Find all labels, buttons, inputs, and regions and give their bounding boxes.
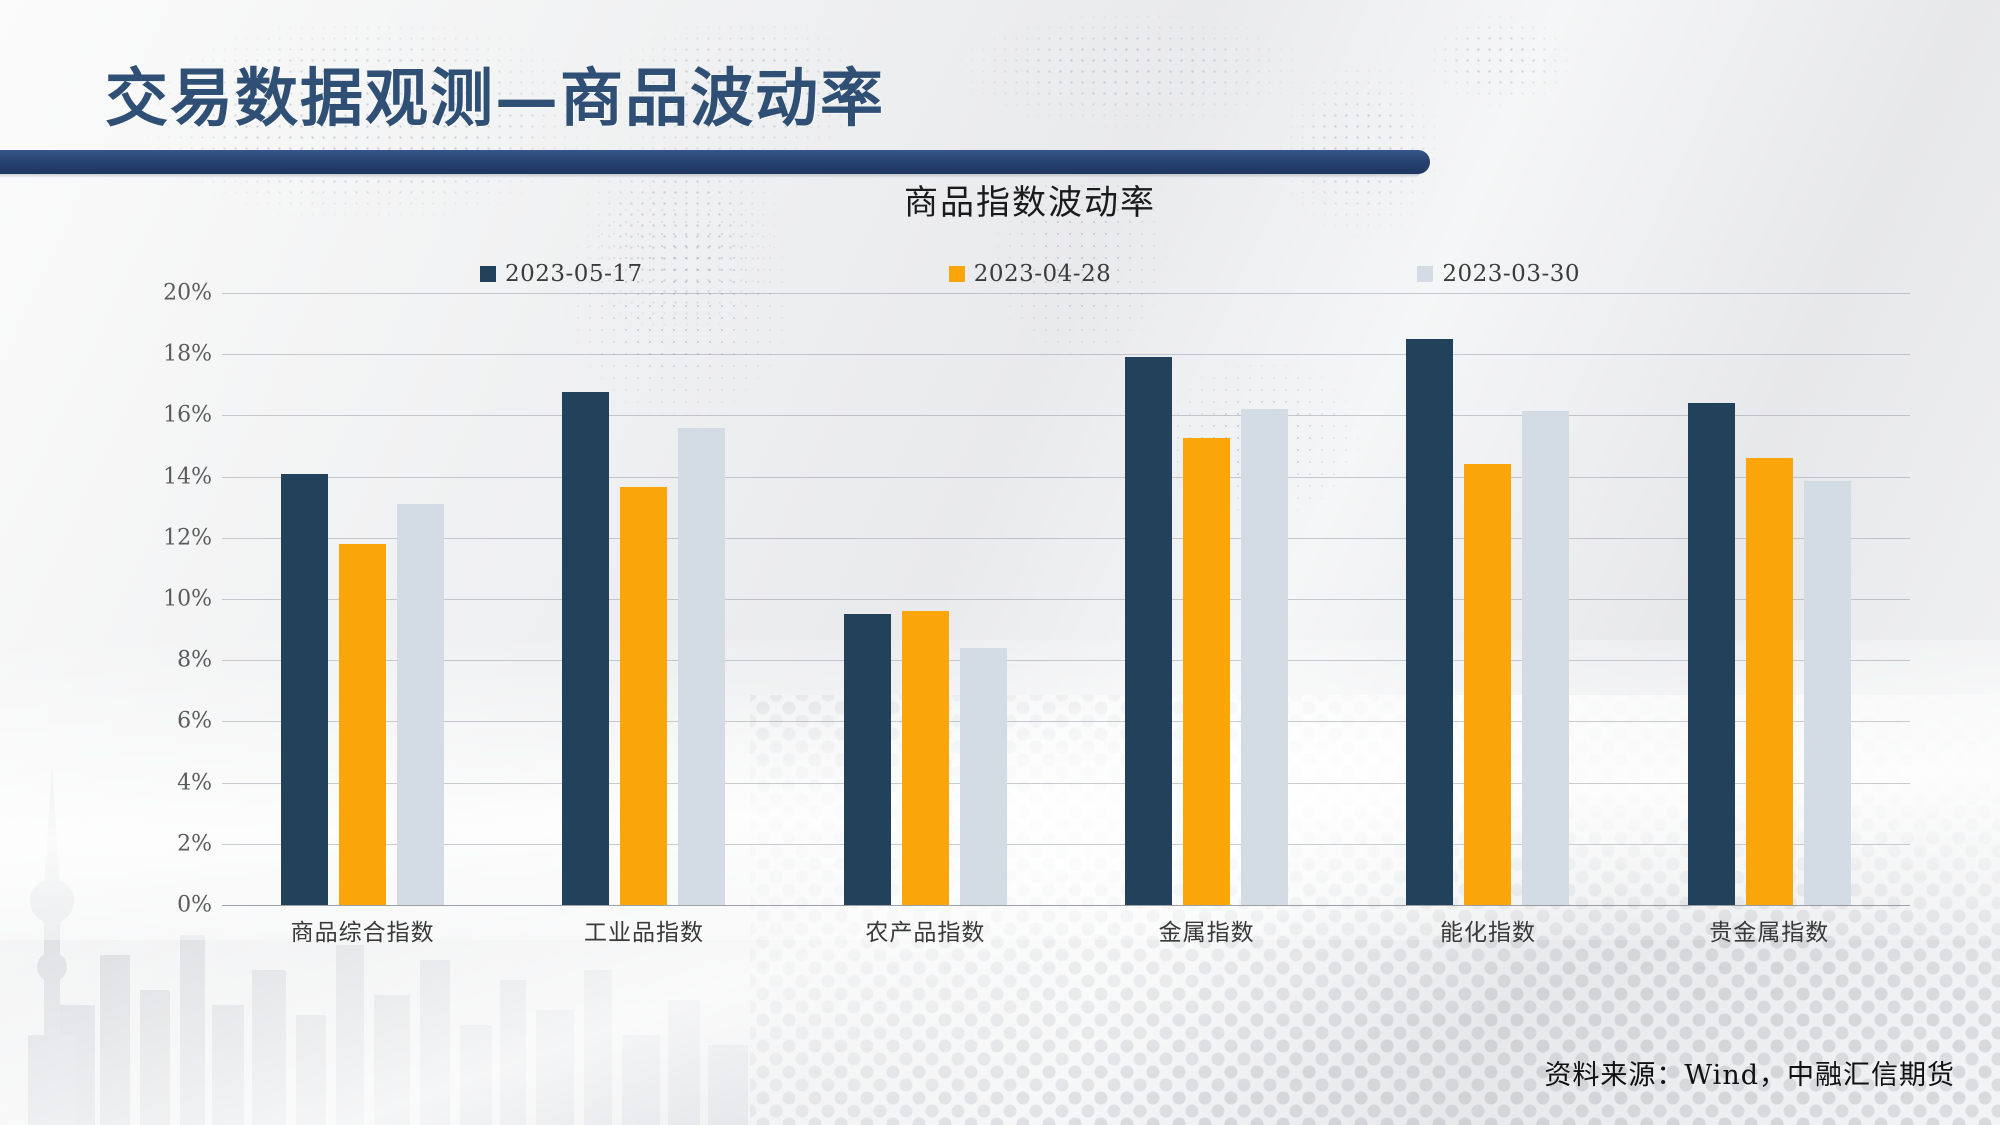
chart-plot-area: 20%18%16%14%12%10%8%6%4%2%0% 商品综合指数工业品指数… xyxy=(150,293,1910,963)
legend-item-3[interactable]: 2023-03-30 xyxy=(1417,261,1580,287)
y-axis: 20%18%16%14%12%10%8%6%4%2%0% xyxy=(150,293,212,905)
bar-group xyxy=(1066,293,1347,905)
slide-canvas: 交易数据观测—商品波动率 商品指数波动率 2023-05-172023-04-2… xyxy=(0,0,2000,1125)
bar-series-1[interactable] xyxy=(1406,339,1453,905)
bar-group xyxy=(1629,293,1910,905)
y-axis-tick-label: 4% xyxy=(150,770,212,795)
x-axis-category-label: 工业品指数 xyxy=(503,913,784,947)
legend-item-2[interactable]: 2023-04-28 xyxy=(949,261,1112,287)
page-title: 交易数据观测—商品波动率 xyxy=(105,48,885,139)
bar-series-3[interactable] xyxy=(1522,411,1569,905)
bar-series-2[interactable] xyxy=(902,611,949,905)
bar-series-2[interactable] xyxy=(1464,464,1511,905)
y-axis-tick-label: 10% xyxy=(150,587,212,612)
bar-series-1[interactable] xyxy=(281,474,328,905)
y-axis-tick-label: 6% xyxy=(150,709,212,734)
legend-label: 2023-03-30 xyxy=(1442,261,1580,287)
bar-series-1[interactable] xyxy=(1688,403,1735,905)
bar-series-3[interactable] xyxy=(1241,409,1288,905)
bar-series-3[interactable] xyxy=(960,648,1007,905)
chart-legend: 2023-05-172023-04-282023-03-30 xyxy=(480,261,1580,287)
bar-series-1[interactable] xyxy=(562,392,609,905)
legend-item-1[interactable]: 2023-05-17 xyxy=(480,261,643,287)
y-axis-tick-label: 12% xyxy=(150,525,212,550)
chart-title: 商品指数波动率 xyxy=(150,175,1910,224)
bar-series-3[interactable] xyxy=(1804,481,1851,905)
bar-series-2[interactable] xyxy=(620,487,667,905)
y-axis-tick-label: 16% xyxy=(150,403,212,428)
x-axis-baseline xyxy=(222,905,1910,906)
x-axis-category-label: 商品综合指数 xyxy=(222,913,503,947)
x-axis: 商品综合指数工业品指数农产品指数金属指数能化指数贵金属指数 xyxy=(222,913,1910,947)
bar-series-3[interactable] xyxy=(397,504,444,905)
bar-series-3[interactable] xyxy=(678,428,725,905)
legend-label: 2023-05-17 xyxy=(505,261,643,287)
x-axis-category-label: 能化指数 xyxy=(1347,913,1628,947)
bar-group xyxy=(1347,293,1628,905)
bar-series-1[interactable] xyxy=(844,614,891,905)
x-axis-category-label: 农产品指数 xyxy=(785,913,1066,947)
chart-bars xyxy=(222,293,1910,905)
bar-group xyxy=(222,293,503,905)
y-axis-tick-label: 8% xyxy=(150,648,212,673)
bar-series-2[interactable] xyxy=(339,544,386,905)
x-axis-category-label: 贵金属指数 xyxy=(1629,913,1910,947)
y-axis-tick-label: 20% xyxy=(150,281,212,306)
source-note: 资料来源：Wind，中融汇信期货 xyxy=(1544,1053,1955,1092)
x-axis-category-label: 金属指数 xyxy=(1066,913,1347,947)
title-banner: 交易数据观测—商品波动率 xyxy=(0,0,1440,175)
bar-chart: 商品指数波动率 2023-05-172023-04-282023-03-30 2… xyxy=(150,175,1910,1005)
legend-swatch-icon xyxy=(949,266,965,282)
bar-series-2[interactable] xyxy=(1183,438,1230,905)
y-axis-tick-label: 18% xyxy=(150,342,212,367)
bar-series-2[interactable] xyxy=(1746,458,1793,905)
y-axis-tick-label: 0% xyxy=(150,893,212,918)
legend-swatch-icon xyxy=(1417,266,1433,282)
bar-series-1[interactable] xyxy=(1125,357,1172,905)
legend-swatch-icon xyxy=(480,266,496,282)
bar-group xyxy=(503,293,784,905)
bar-group xyxy=(785,293,1066,905)
y-axis-tick-label: 2% xyxy=(150,831,212,856)
y-axis-tick-label: 14% xyxy=(150,464,212,489)
legend-label: 2023-04-28 xyxy=(974,261,1112,287)
title-accent-bar xyxy=(0,150,1430,174)
